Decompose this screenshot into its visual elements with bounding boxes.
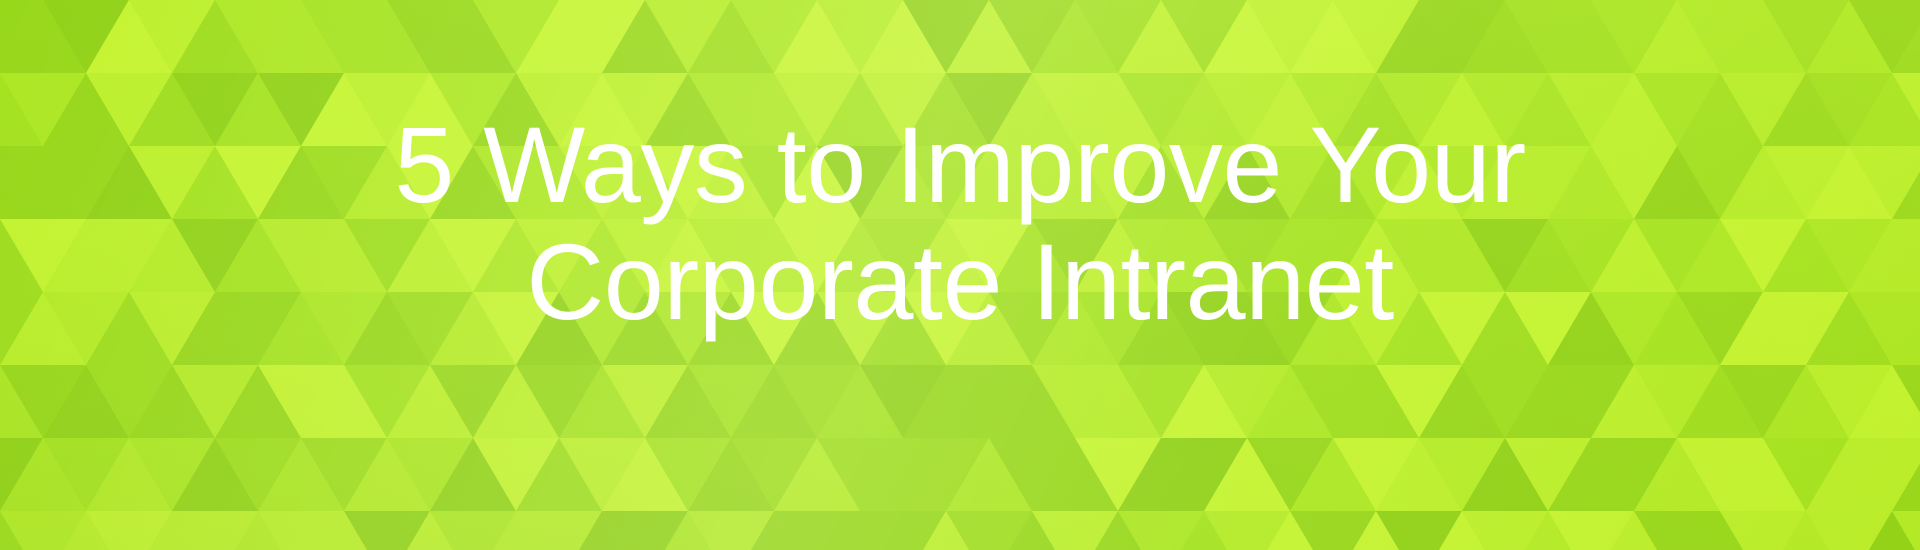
low-poly-background — [0, 0, 1920, 550]
hero-banner: 5 Ways to Improve Your Corporate Intrane… — [0, 0, 1920, 550]
